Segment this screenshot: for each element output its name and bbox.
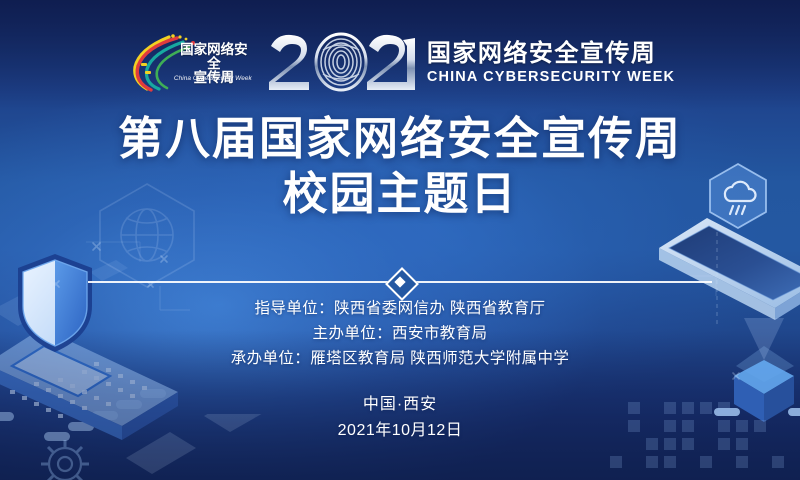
title-line-2: 校园主题日 bbox=[0, 166, 800, 222]
footer-info: 中国·西安 2021年10月12日 bbox=[0, 392, 800, 444]
organizer-line-host: 主办单位：西安市教育局 bbox=[0, 321, 800, 346]
emblem-english-text: China Cybersecurity Week bbox=[171, 75, 255, 82]
divider bbox=[88, 268, 712, 296]
wordmark-chinese: 国家网络安全宣传周 bbox=[427, 42, 675, 66]
wordmark-english: CHINA CYBERSECURITY WEEK bbox=[427, 70, 675, 85]
footer-place: 中国·西安 bbox=[0, 392, 800, 418]
footer-date: 2021年10月12日 bbox=[0, 418, 800, 444]
cybersecurity-week-emblem: 国家网络安全 宣传周 China Cybersecurity Week bbox=[125, 33, 253, 93]
year-wordmark-lockup: 国家网络安全宣传周 CHINA CYBERSECURITY WEEK bbox=[267, 32, 675, 94]
poster-canvas: 国家网络安全 宣传周 China Cybersecurity Week bbox=[0, 0, 800, 480]
wordmark-block: 国家网络安全宣传周 CHINA CYBERSECURITY WEEK bbox=[427, 42, 675, 85]
organizer-line-guidance: 指导单位：陕西省委网信办 陕西省教育厅 bbox=[0, 296, 800, 321]
organizer-line-organizer: 承办单位：雁塔区教育局 陕西师范大学附属中学 bbox=[0, 346, 800, 371]
organizer-info: 指导单位：陕西省委网信办 陕西省教育厅 主办单位：西安市教育局 承办单位：雁塔区… bbox=[0, 296, 800, 371]
year-2021-logo bbox=[267, 32, 415, 94]
fingerprint-icon bbox=[267, 32, 415, 94]
header-logo-row: 国家网络安全 宣传周 China Cybersecurity Week bbox=[0, 28, 800, 98]
main-title: 第八届国家网络安全宣传周 校园主题日 bbox=[0, 112, 800, 222]
title-line-1: 第八届国家网络安全宣传周 bbox=[0, 112, 800, 166]
diamond-ornament-icon bbox=[380, 268, 420, 296]
